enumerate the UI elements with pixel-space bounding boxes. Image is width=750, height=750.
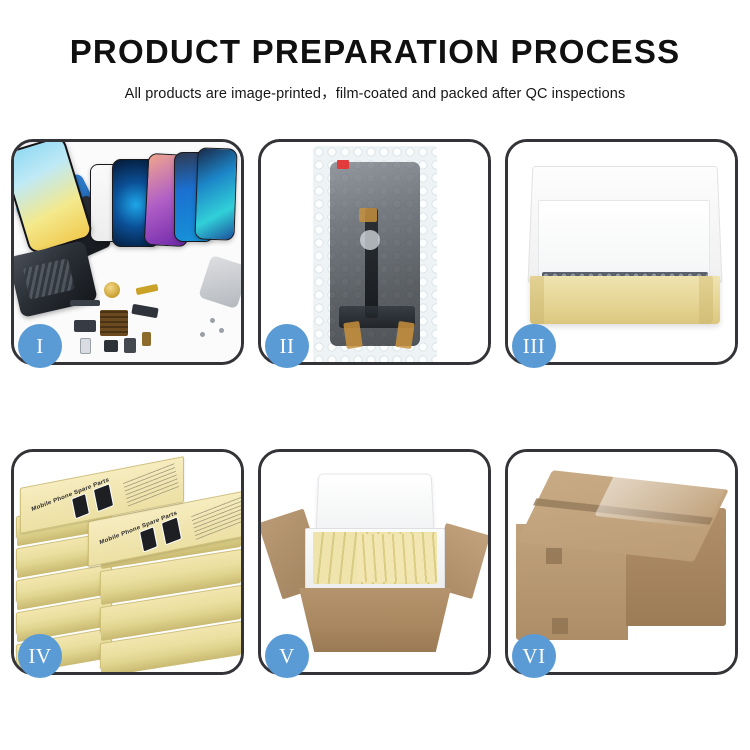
- part-screw: [210, 318, 215, 323]
- step-badge-3: III: [512, 324, 556, 368]
- step-badge-1: I: [18, 324, 62, 368]
- product-preparation-infographic: PRODUCT PREPARATION PROCESS All products…: [0, 0, 750, 750]
- lcd-flex-cable: [365, 208, 378, 318]
- step-card-2: II: [258, 139, 491, 365]
- part-chip: [131, 304, 158, 318]
- steps-grid: I II: [11, 139, 739, 675]
- box-spec-lines: [123, 462, 179, 506]
- step-card-3: III: [505, 139, 738, 365]
- phone-teardown-graphic: [14, 240, 98, 318]
- carton-tape-patch: [552, 618, 568, 634]
- part-chip: [104, 282, 120, 298]
- part-screw: [200, 332, 205, 337]
- box-spec-lines: [191, 495, 241, 539]
- page-subtitle: All products are image-printed，film-coat…: [0, 82, 750, 103]
- step-card-5: V: [258, 449, 491, 675]
- box-phone-thumbnail: [161, 516, 182, 545]
- kapton-tape: [359, 208, 377, 222]
- part-chip: [104, 340, 118, 352]
- part-chip: [80, 338, 91, 354]
- step-badge-5: V: [265, 634, 309, 678]
- phone-screen-graphic-5: [194, 147, 237, 240]
- header: PRODUCT PREPARATION PROCESS All products…: [0, 0, 750, 103]
- part-chip: [136, 284, 159, 295]
- part-chip: [100, 310, 128, 336]
- part-chip: [74, 320, 96, 332]
- repair-tool-graphic: [198, 255, 241, 309]
- box-edge-left: [530, 276, 544, 324]
- phone-front-graphic: [14, 142, 94, 255]
- box-phone-thumbnail: [93, 483, 114, 512]
- step-badge-4: IV: [18, 634, 62, 678]
- step-card-4: Mobile Phone Spare Parts Mobile Phone Sp…: [11, 449, 244, 675]
- retail-boxes-row: [357, 534, 437, 582]
- page-title: PRODUCT PREPARATION PROCESS: [0, 34, 750, 70]
- step-badge-6: VI: [512, 634, 556, 678]
- step-badge-2: II: [265, 324, 309, 368]
- box-edge-right: [699, 276, 713, 324]
- red-qc-label: [337, 160, 349, 169]
- step-card-6: VI: [505, 449, 738, 675]
- kapton-tape: [343, 321, 362, 349]
- box-phone-thumbnail: [71, 493, 90, 520]
- foam-sheet-graphic: [538, 200, 710, 282]
- box-phone-thumbnail: [139, 526, 158, 553]
- part-chip: [124, 338, 136, 353]
- foam-lid-graphic: [316, 474, 435, 532]
- bubble-wrap-bag: [313, 146, 437, 362]
- carton-tape-patch: [546, 548, 562, 564]
- part-chip: [142, 332, 151, 346]
- part-screw: [219, 328, 224, 333]
- lcd-camera-hole: [360, 230, 380, 250]
- carton-body-graphic: [299, 588, 451, 652]
- part-chip: [70, 300, 100, 306]
- yellow-box-tray: [530, 276, 720, 324]
- step-card-1: I: [11, 139, 244, 365]
